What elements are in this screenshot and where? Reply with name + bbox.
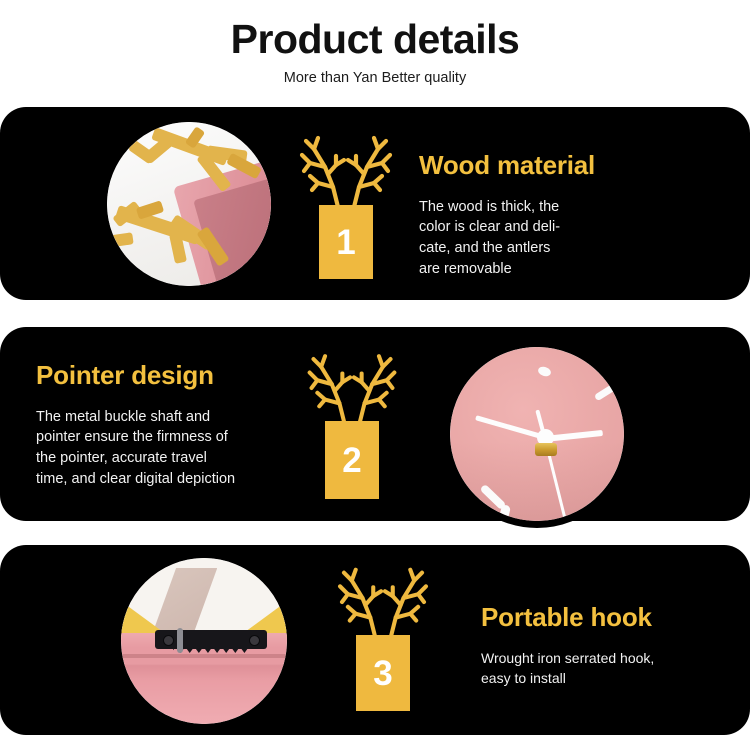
hook-screw-left: [163, 635, 174, 646]
feature-body-1: The wood is thick, the color is clear an…: [419, 197, 719, 279]
step-badge-2: 2: [300, 347, 404, 499]
page-title: Product details: [0, 18, 750, 61]
feature-heading-1: Wood material: [419, 151, 719, 181]
step-badge-1-box: 1: [319, 205, 373, 279]
feature-body-3: Wrought iron serrated hook, easy to inst…: [481, 649, 741, 689]
feature-panel-3: 3 Portable hook Wrought iron serrated ho…: [0, 545, 750, 735]
feature-text-2: Pointer design The metal buckle shaft an…: [36, 361, 311, 489]
step-badge-2-box: 2: [325, 421, 379, 499]
product-photo-1-image: [107, 122, 271, 286]
feature-text-3: Portable hook Wrought iron serrated hook…: [481, 603, 741, 689]
page-header: Product details More than Yan Better qua…: [0, 0, 750, 87]
step-number-2: 2: [342, 443, 361, 478]
feature-panel-1: 1 Wood material The wood is thick, the c…: [0, 107, 750, 300]
page-subtitle: More than Yan Better quality: [0, 70, 750, 87]
product-photo-3: [114, 551, 294, 731]
step-badge-3-box: 3: [356, 635, 410, 711]
step-badge-3: 3: [330, 561, 436, 711]
hook-bracket: [177, 628, 183, 653]
antler-icon: [300, 347, 404, 427]
feature-panel-2: Pointer design The metal buckle shaft an…: [0, 327, 750, 521]
product-photo-2: [443, 340, 631, 528]
feature-body-2: The metal buckle shaft and pointer ensur…: [36, 407, 311, 489]
feature-heading-3: Portable hook: [481, 603, 741, 633]
product-photo-1: [100, 115, 278, 293]
step-badge-1: 1: [292, 129, 400, 279]
step-number-1: 1: [336, 225, 355, 260]
antler-icon: [292, 129, 400, 211]
feature-heading-2: Pointer design: [36, 361, 311, 391]
step-number-3: 3: [373, 656, 392, 691]
product-photo-3-image: [121, 558, 287, 724]
feature-text-1: Wood material The wood is thick, the col…: [419, 151, 719, 279]
product-photo-2-image: [450, 347, 624, 521]
clock-hub-brass: [535, 443, 557, 456]
hook-screw-right: [249, 635, 260, 646]
antler-icon: [330, 561, 436, 641]
